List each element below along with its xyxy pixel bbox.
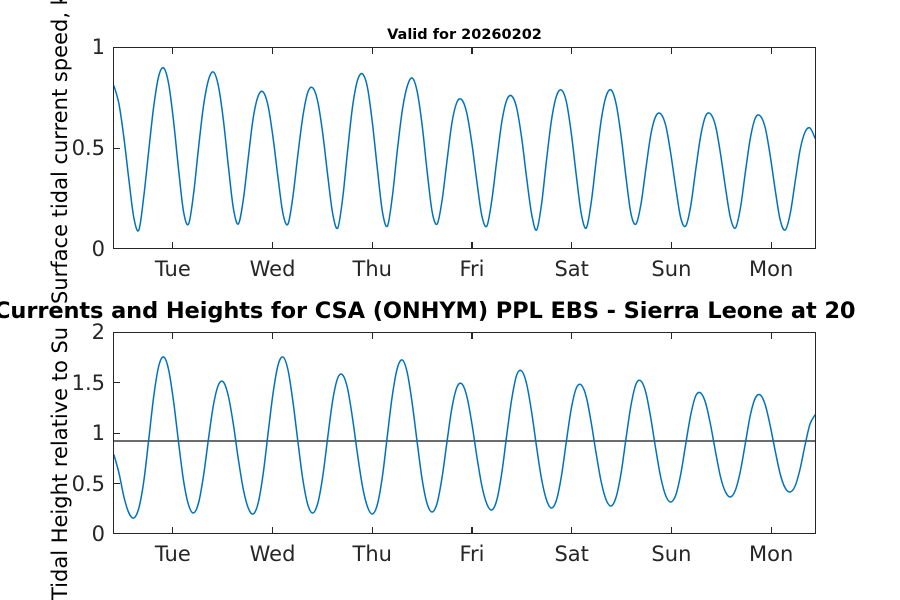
- x-tick-label-tidal-height: Mon: [749, 542, 793, 566]
- y-tick-label: 0: [92, 522, 105, 546]
- plot-canvas-current-speed: [114, 48, 815, 248]
- axes-tidal-height: [113, 332, 816, 534]
- plot-canvas-tidal-height: [114, 333, 815, 533]
- x-tick-label-current-speed: Wed: [250, 257, 296, 281]
- x-tick-mark: [272, 332, 273, 339]
- y-tick-mark: [113, 148, 120, 149]
- axes-current-speed: [113, 47, 816, 249]
- x-tick-mark: [172, 47, 173, 54]
- series-line-current-speed-0: [114, 68, 815, 231]
- x-tick-mark: [671, 47, 672, 54]
- x-tick-label-current-speed: Sat: [554, 257, 588, 281]
- x-tick-label-current-speed: Thu: [353, 257, 392, 281]
- y-tick-label: 1.5: [72, 371, 105, 395]
- y-tick-mark: [113, 483, 120, 484]
- x-tick-mark: [571, 332, 572, 339]
- x-tick-mark: [671, 332, 672, 339]
- x-tick-mark: [771, 527, 772, 534]
- x-tick-mark: [571, 47, 572, 54]
- y-tick-mark: [113, 433, 120, 434]
- y-tick-label: 2: [92, 320, 105, 344]
- x-tick-mark: [172, 242, 173, 249]
- x-tick-mark: [671, 527, 672, 534]
- figure-suptitle: Currents and Heights for CSA (ONHYM) PPL…: [0, 298, 900, 324]
- x-tick-mark: [771, 47, 772, 54]
- x-tick-label-current-speed: Sun: [651, 257, 691, 281]
- series-line-tidal-height-0: [114, 357, 815, 518]
- x-tick-mark: [471, 332, 472, 339]
- x-tick-label-tidal-height: Wed: [250, 542, 296, 566]
- y-axis-label-current-speed: Surface tidal current speed, kn: [48, 0, 72, 304]
- x-tick-label-current-speed: Mon: [749, 257, 793, 281]
- y-tick-label: 1: [92, 421, 105, 445]
- y-tick-label: 0.5: [72, 472, 105, 496]
- x-tick-mark: [571, 527, 572, 534]
- x-tick-mark: [372, 242, 373, 249]
- x-tick-mark: [671, 242, 672, 249]
- x-tick-mark: [272, 242, 273, 249]
- x-tick-label-tidal-height: Fri: [459, 542, 484, 566]
- x-tick-label-tidal-height: Sat: [554, 542, 588, 566]
- x-tick-label-tidal-height: Tue: [155, 542, 191, 566]
- x-tick-label-current-speed: Fri: [459, 257, 484, 281]
- x-tick-mark: [172, 332, 173, 339]
- y-tick-label: 1: [92, 35, 105, 59]
- y-axis-label-tidal-height: Tidal Height relative to Su: [48, 327, 72, 600]
- x-tick-mark: [272, 527, 273, 534]
- x-tick-mark: [471, 527, 472, 534]
- x-tick-mark: [372, 527, 373, 534]
- x-tick-mark: [771, 242, 772, 249]
- x-tick-label-tidal-height: Thu: [353, 542, 392, 566]
- plot-title-current-speed: Valid for 20260202: [113, 27, 816, 43]
- y-tick-label: 0: [92, 237, 105, 261]
- x-tick-mark: [771, 332, 772, 339]
- x-tick-mark: [372, 332, 373, 339]
- x-tick-mark: [471, 242, 472, 249]
- y-tick-mark: [113, 382, 120, 383]
- x-tick-label-tidal-height: Sun: [651, 542, 691, 566]
- x-tick-label-current-speed: Tue: [155, 257, 191, 281]
- x-tick-mark: [172, 527, 173, 534]
- y-tick-label: 0.5: [72, 136, 105, 160]
- x-tick-mark: [571, 242, 572, 249]
- x-tick-mark: [272, 47, 273, 54]
- x-tick-mark: [471, 47, 472, 54]
- x-tick-mark: [372, 47, 373, 54]
- matlab-figure: Surface tidal current speed, kn Tidal He…: [0, 0, 900, 600]
